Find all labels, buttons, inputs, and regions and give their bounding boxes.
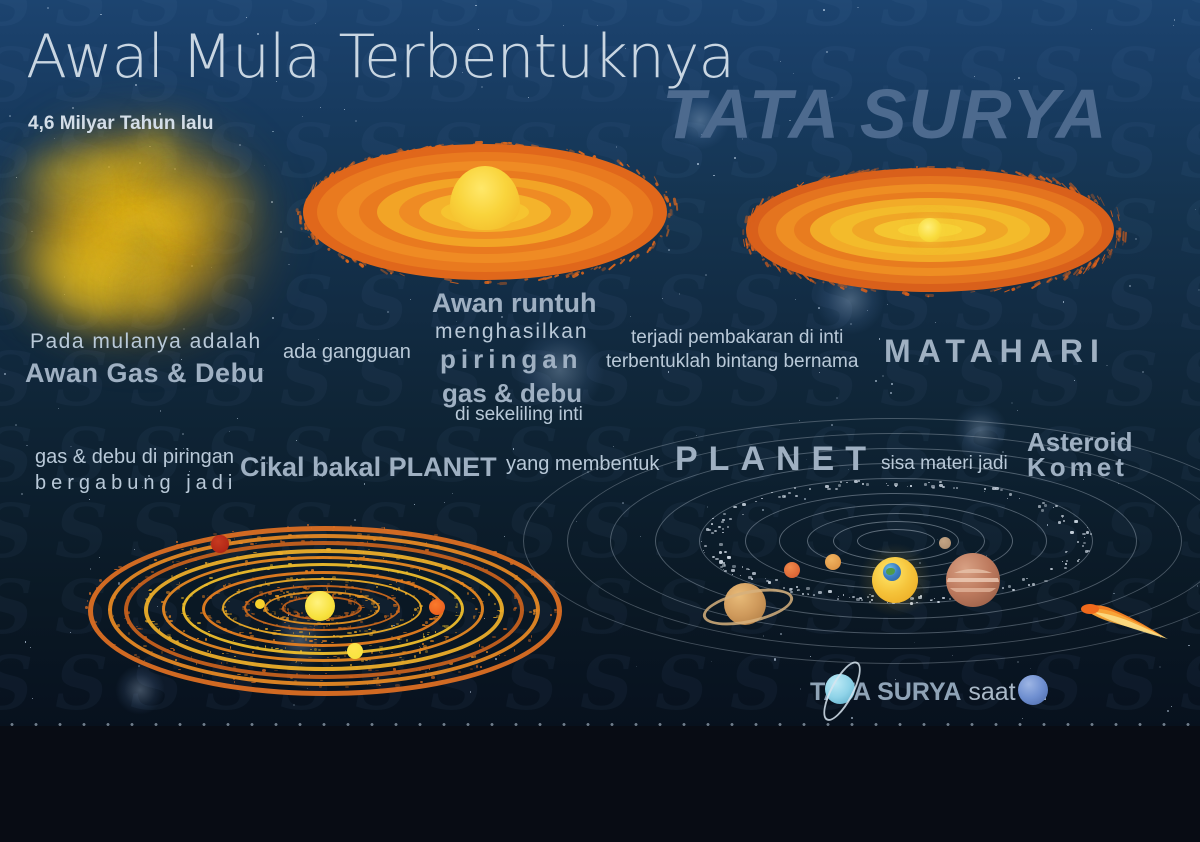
label-sisa-materi-jadi: sisa materi jadi	[881, 453, 1008, 475]
asteroid-belt-rock	[733, 506, 735, 508]
asteroid-belt-rock	[731, 569, 734, 572]
asteroid-belt-rock	[782, 495, 786, 498]
footer-bar: LANGITSELATAN ASTROLOGI langitselatan	[0, 726, 1200, 842]
asteroid-belt-rock	[729, 518, 732, 520]
asteroid-belt-rock	[809, 488, 811, 489]
asteroid-belt-rock	[724, 570, 727, 572]
asteroid-belt-rock	[924, 483, 927, 485]
asteroid-belt-rock	[910, 485, 912, 486]
label-terbentuklah-bintang: terbentuklah bintang bernama	[606, 351, 858, 373]
planet-mars	[784, 562, 800, 578]
label-terjadi-pembakaran: terjadi pembakaran di inti	[631, 327, 843, 349]
label-pada-mulanya: Pada mulanya adalah	[30, 330, 262, 354]
asteroid-belt-rock	[1044, 504, 1047, 506]
asteroid-belt-rock	[722, 519, 724, 521]
asteroid-belt-rock	[858, 480, 860, 482]
page-title: Awal Mula Terbentuknya	[26, 22, 734, 92]
asteroid-belt-rock	[1061, 515, 1064, 517]
asteroid-belt-rock	[1062, 517, 1063, 518]
asteroid-belt-rock	[704, 545, 707, 547]
asteroid-belt-rock	[1022, 578, 1025, 581]
asteroid-belt-rock	[828, 590, 832, 593]
page-subtitle: 4,6 Milyar Tahun lalu	[28, 113, 213, 135]
asteroid-belt-rock	[862, 483, 864, 485]
asteroid-belt-rock	[778, 496, 781, 498]
asteroid-belt-rock	[1038, 505, 1041, 507]
asteroid-belt-rock	[818, 591, 821, 594]
asteroid-belt-rock	[727, 526, 728, 527]
protoplanetary-rings-forming-planets	[80, 518, 560, 700]
protoplanet-orange	[429, 599, 445, 615]
asteroid-belt-rock	[727, 556, 730, 559]
label-cikal-bakal-planet: Cikal bakal PLANET	[240, 452, 497, 483]
asteroid-belt-rock	[783, 587, 785, 588]
planet-venus	[825, 554, 841, 570]
proto-sun	[305, 591, 335, 621]
asteroid-belt-rock	[1063, 520, 1065, 522]
asteroid-belt-rock	[1064, 567, 1067, 569]
label-matahari: MATAHARI	[884, 333, 1106, 370]
asteroid-belt-rock	[724, 551, 727, 553]
asteroid-belt-rock	[748, 576, 752, 579]
planet-mercury	[939, 537, 951, 549]
asteroid-belt-rock	[752, 572, 755, 575]
asteroid-belt-rock	[949, 598, 951, 600]
asteroid-belt-rock	[1077, 541, 1079, 543]
asteroid-belt-rock	[849, 597, 850, 598]
asteroid-belt-rock	[1000, 489, 1003, 491]
gas-dust-cloud-illustration	[12, 118, 267, 343]
asteroid-belt-rock	[930, 599, 933, 601]
protoplanet-yellow-large	[347, 643, 363, 659]
asteroid-belt-rock	[721, 521, 723, 523]
planet-neptune	[1018, 675, 1048, 705]
asteroid-belt-rock	[771, 492, 772, 493]
label-awan-gas-debu: Awan Gas & Debu	[25, 358, 265, 389]
asteroid-belt-rock	[1028, 584, 1030, 586]
asteroid-belt-rock	[1066, 560, 1068, 561]
asteroid-belt-rock	[719, 543, 723, 546]
asteroid-belt-rock	[932, 487, 935, 489]
label-awan-runtuh: Awan runtuh	[432, 288, 597, 319]
label-planet: PLANET	[675, 440, 877, 479]
asteroid-belt-rock	[722, 528, 724, 530]
asteroid-belt-rock	[789, 588, 792, 590]
asteroid-belt-rock	[719, 551, 722, 553]
asteroid-belt-rock	[711, 523, 713, 525]
label-bergabung-jadi: bergabung jadi	[35, 472, 237, 495]
asteroid-belt-rock	[1065, 563, 1067, 565]
label-yang-membentuk: yang membentuk	[506, 453, 659, 476]
asteroid-belt-rock	[1070, 531, 1073, 534]
label-ada-gangguan: ada gangguan	[283, 341, 411, 364]
asteroid-belt-rock	[1053, 507, 1054, 508]
asteroid-belt-rock	[806, 587, 810, 590]
asteroid-belt-rock	[719, 560, 723, 563]
asteroid-belt-rock	[712, 556, 715, 558]
asteroid-belt-rock	[732, 565, 736, 568]
asteroid-belt-rock	[1085, 550, 1088, 552]
big-title-tata-surya: TATA SURYA	[662, 74, 1108, 154]
asteroid-belt-rock	[1074, 520, 1077, 523]
asteroid-belt-rock	[894, 483, 898, 486]
asteroid-belt-rock	[1082, 533, 1085, 536]
asteroid-belt-rock	[992, 487, 996, 490]
jupiter-band	[947, 578, 999, 582]
label-menghasilkan: menghasilkan	[435, 320, 589, 344]
protoplanet-yellow-small	[255, 599, 265, 609]
protoplanet-red	[211, 535, 229, 553]
asteroid-belt-rock	[956, 487, 958, 489]
asteroid-belt-rock	[1007, 498, 1008, 499]
asteroid-belt-rock	[942, 597, 944, 599]
label-di-sekeliling-inti: di sekeliling inti	[455, 404, 583, 426]
asteroid-belt-rock	[837, 598, 840, 600]
asteroid-belt-rock	[722, 564, 726, 567]
asteroid-belt-rock	[1008, 585, 1011, 588]
infographic-canvas: SSSSSSSSSSSSSSSSSSSSSSSSSSSSSSSSSSSSSSSS…	[0, 0, 1200, 842]
asteroid-belt-rock	[866, 483, 869, 485]
comet-illustration	[1080, 600, 1180, 642]
asteroid-belt-rock	[802, 593, 804, 595]
protoplanetary-disk-stage2-sun	[745, 168, 1125, 298]
asteroid-belt-rock	[840, 481, 842, 483]
asteroid-belt-rock	[1009, 493, 1012, 496]
asteroid-belt-rock	[939, 481, 942, 483]
asteroid-belt-rock	[796, 586, 798, 588]
label-piringan: piringan	[440, 344, 583, 375]
asteroid-belt-rock	[928, 482, 930, 483]
protoplanetary-disk-stage1	[300, 140, 670, 300]
asteroid-belt-rock	[825, 485, 829, 488]
label-komet: Komet	[1027, 452, 1128, 483]
asteroid-belt-rock	[838, 484, 841, 487]
label-gas-debu-di-piringan: gas & debu di piringan	[35, 446, 234, 469]
